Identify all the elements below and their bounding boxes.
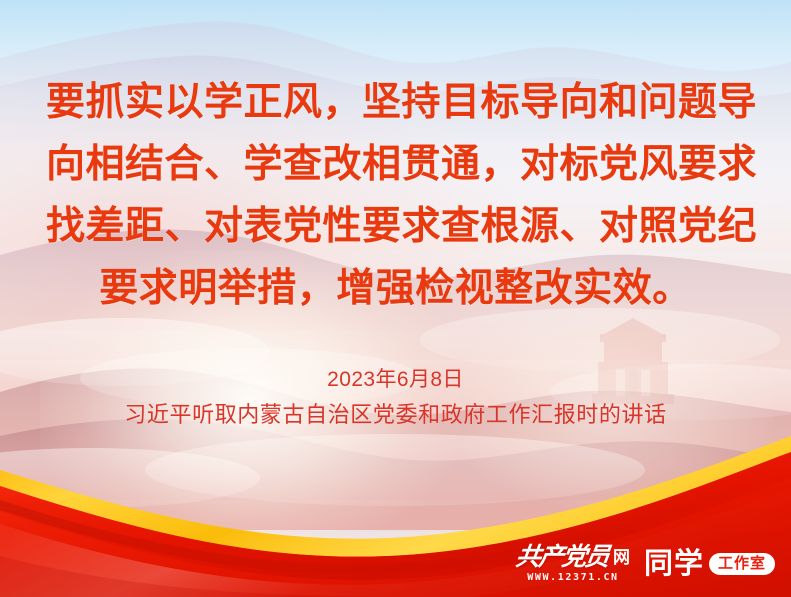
party-site-logo[interactable]: 共产党员 网 WWW.12371.CN <box>516 544 630 583</box>
headline-block: 要抓实以学正风，坚持目标导向和问题导 向相结合、学查改相贯通，对标党风要求 找差… <box>0 72 791 320</box>
party-site-brush-text: 共产党员 <box>514 544 610 569</box>
logo-bar: 共产党员 网 WWW.12371.CN 同学 工作室 <box>516 544 775 583</box>
headline-line-1: 要抓实以学正风，坚持目标导向和问题导 <box>46 72 745 134</box>
headline-line-3: 找差距、对表党性要求查根源、对照党纪 <box>46 196 745 258</box>
poster-canvas: 要抓实以学正风，坚持目标导向和问题导 向相结合、学查改相贯通，对标党风要求 找差… <box>0 0 791 597</box>
studio-logo[interactable]: 同学 工作室 <box>644 549 775 578</box>
party-site-net-char: 网 <box>613 550 630 567</box>
headline-line-4: 要求明举措，增强检视整改实效。 <box>46 258 745 320</box>
party-site-url: WWW.12371.CN <box>527 573 618 583</box>
speech-source: 习近平听取内蒙古自治区党委和政府工作汇报时的讲话 <box>0 396 791 434</box>
caption-block: 2023年6月8日 习近平听取内蒙古自治区党委和政府工作汇报时的讲话 <box>0 364 791 434</box>
party-site-wordmark: 共产党员 网 <box>516 544 630 569</box>
speech-date: 2023年6月8日 <box>0 364 791 396</box>
headline-line-2: 向相结合、学查改相贯通，对标党风要求 <box>46 134 745 196</box>
studio-pill-label: 工作室 <box>709 553 775 575</box>
studio-name: 同学 <box>644 549 704 578</box>
